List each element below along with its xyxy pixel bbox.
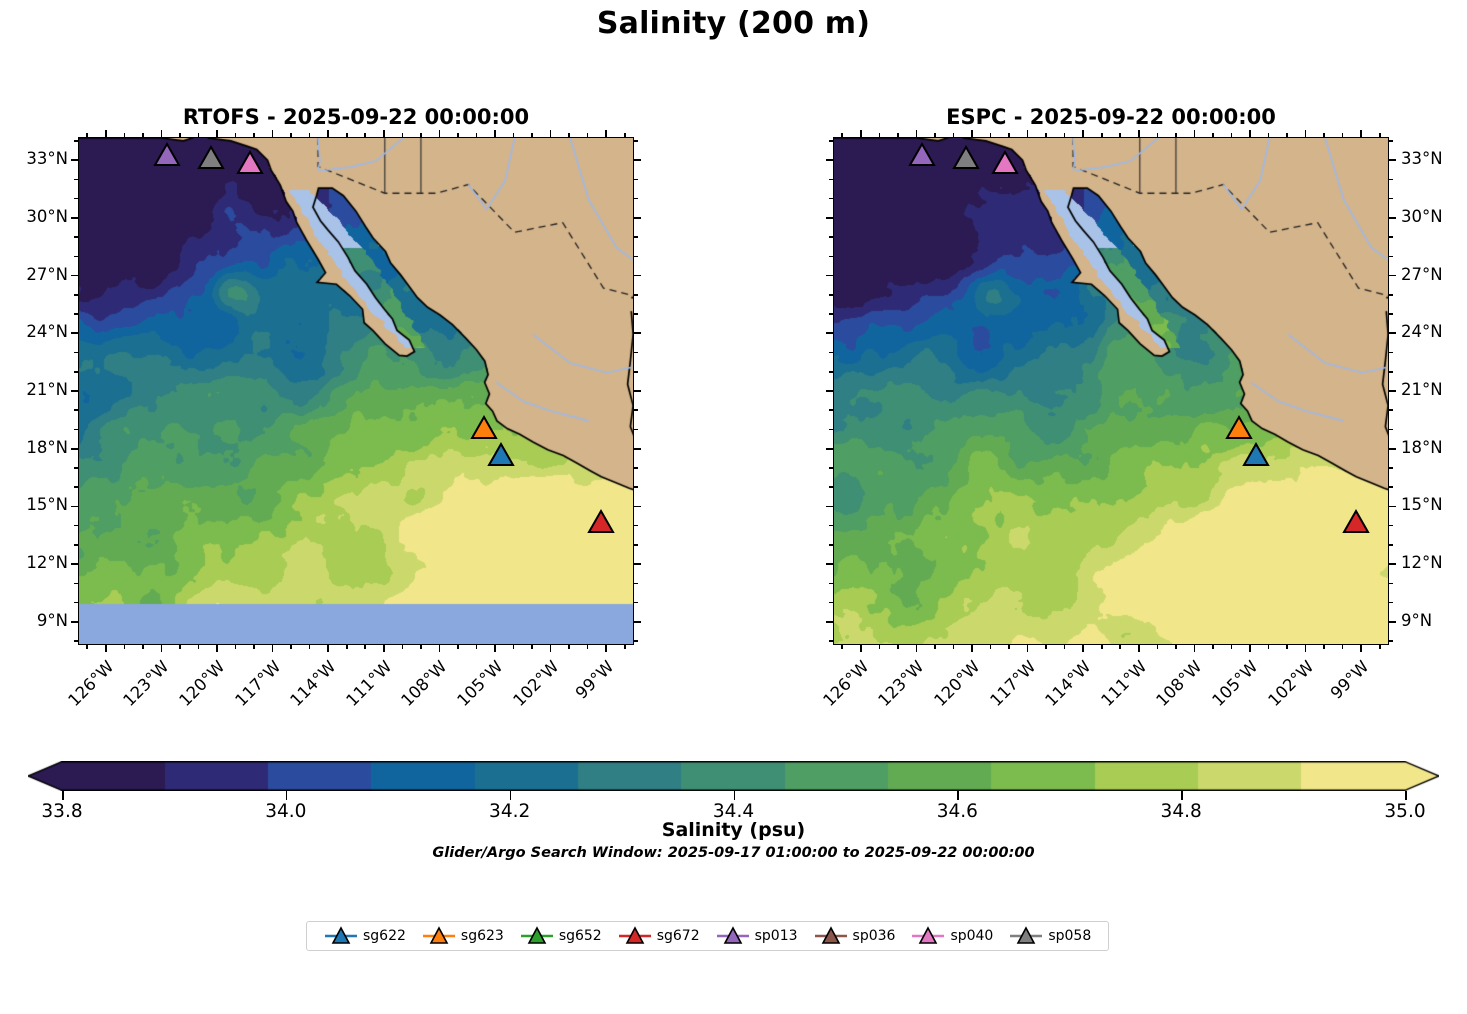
y-tick xyxy=(634,486,638,488)
y-tick xyxy=(74,486,78,488)
y-axis-label: 24°N xyxy=(1401,322,1467,341)
x-tick xyxy=(364,133,366,137)
y-tick xyxy=(74,256,78,258)
x-tick xyxy=(513,133,515,137)
x-tick xyxy=(161,645,163,652)
y-tick xyxy=(829,602,833,604)
y-tick xyxy=(829,429,833,431)
y-tick xyxy=(829,294,833,296)
y-tick xyxy=(634,429,638,431)
x-tick xyxy=(494,130,496,137)
y-tick xyxy=(1389,506,1396,508)
x-tick xyxy=(1194,645,1196,652)
x-tick xyxy=(86,133,88,137)
y-tick xyxy=(1389,179,1393,181)
x-tick xyxy=(179,133,181,137)
y-tick xyxy=(71,159,78,161)
y-tick xyxy=(71,506,78,508)
legend-item-sp058[interactable]: sp058 xyxy=(1001,927,1099,945)
search-window-caption: Glider/Argo Search Window: 2025-09-17 01… xyxy=(0,845,1467,861)
y-tick xyxy=(1389,256,1393,258)
y-tick xyxy=(74,467,78,469)
x-tick xyxy=(105,645,107,652)
x-tick xyxy=(531,133,533,137)
legend-label: sp040 xyxy=(950,928,993,944)
x-tick xyxy=(309,645,311,649)
y-tick xyxy=(74,294,78,296)
x-tick xyxy=(476,645,478,649)
y-tick xyxy=(634,236,638,238)
y-axis-label: 18°N xyxy=(0,438,68,457)
y-tick xyxy=(826,332,833,334)
x-tick xyxy=(1175,133,1177,137)
y-axis-label: 18°N xyxy=(1401,438,1467,457)
x-tick xyxy=(1212,133,1214,137)
y-axis-label: 21°N xyxy=(0,380,68,399)
x-tick xyxy=(198,645,200,649)
y-tick xyxy=(829,486,833,488)
y-tick xyxy=(634,621,641,623)
y-tick xyxy=(1389,352,1393,354)
salinity-field-espc xyxy=(834,138,1389,645)
x-tick xyxy=(142,133,144,137)
x-tick xyxy=(346,133,348,137)
y-tick xyxy=(826,563,833,565)
map-area-rtofs[interactable] xyxy=(78,137,634,645)
y-tick xyxy=(826,448,833,450)
x-tick xyxy=(1175,645,1177,649)
y-tick xyxy=(1389,486,1393,488)
y-tick xyxy=(74,544,78,546)
x-tick xyxy=(272,130,274,137)
y-tick xyxy=(1389,525,1393,527)
x-tick xyxy=(1064,645,1066,649)
y-tick xyxy=(634,371,638,373)
x-tick xyxy=(1268,133,1270,137)
y-tick xyxy=(829,467,833,469)
y-tick xyxy=(1389,621,1396,623)
x-tick xyxy=(142,645,144,649)
y-tick xyxy=(1389,198,1393,200)
y-axis-label: 15°N xyxy=(1401,495,1467,514)
x-tick xyxy=(1082,130,1084,137)
y-tick xyxy=(826,217,833,219)
x-tick xyxy=(860,645,862,652)
y-tick xyxy=(634,467,638,469)
x-tick xyxy=(494,645,496,652)
x-tick xyxy=(1249,645,1251,652)
x-tick xyxy=(513,645,515,649)
x-tick xyxy=(1101,133,1103,137)
x-tick xyxy=(990,645,992,649)
y-tick xyxy=(1389,313,1393,315)
x-tick xyxy=(953,133,955,137)
y-axis-label: 27°N xyxy=(0,265,68,284)
x-tick xyxy=(216,130,218,137)
y-tick xyxy=(1389,140,1393,142)
y-tick xyxy=(1389,640,1393,642)
legend: sg622sg623sg652sg672sp013sp036sp040sp058 xyxy=(306,921,1109,951)
colorbar-tick xyxy=(734,791,736,800)
figure-root: Salinity (200 m) RTOFS - 2025-09-22 00:0… xyxy=(0,0,1467,1014)
y-tick xyxy=(71,275,78,277)
legend-label: sp013 xyxy=(755,928,798,944)
y-tick xyxy=(634,583,638,585)
x-tick xyxy=(568,645,570,649)
x-tick xyxy=(272,645,274,652)
x-tick xyxy=(124,645,126,649)
x-tick xyxy=(457,133,459,137)
y-axis-label: 9°N xyxy=(0,611,68,630)
y-axis-label: 27°N xyxy=(1401,265,1467,284)
y-tick xyxy=(71,448,78,450)
x-tick xyxy=(198,133,200,137)
legend-marker-icon xyxy=(520,927,554,945)
legend-item-sg672[interactable]: sg672 xyxy=(610,927,708,945)
colorbar-tick xyxy=(286,791,288,800)
x-tick xyxy=(86,645,88,649)
x-tick xyxy=(235,133,237,137)
y-tick xyxy=(1389,236,1393,238)
x-tick xyxy=(1008,645,1010,649)
y-tick xyxy=(634,506,641,508)
colorbar-tick xyxy=(957,791,959,800)
y-tick xyxy=(74,140,78,142)
y-tick xyxy=(74,179,78,181)
y-tick xyxy=(829,525,833,527)
x-tick xyxy=(605,645,607,652)
y-tick xyxy=(1389,294,1393,296)
y-tick xyxy=(74,371,78,373)
y-tick xyxy=(634,544,638,546)
x-tick xyxy=(841,645,843,649)
y-tick xyxy=(829,409,833,411)
x-tick xyxy=(439,130,441,137)
y-tick xyxy=(826,275,833,277)
x-tick xyxy=(124,133,126,137)
map-panel-espc: ESPC - 2025-09-22 00:00:00126°W123°W120°… xyxy=(833,137,1389,645)
y-tick xyxy=(1389,332,1396,334)
page-title: Salinity (200 m) xyxy=(0,6,1467,41)
colorbar-label: Salinity (psu) xyxy=(0,819,1467,841)
x-tick xyxy=(841,133,843,137)
x-tick xyxy=(897,645,899,649)
x-tick xyxy=(327,645,329,652)
y-tick xyxy=(634,640,638,642)
x-tick xyxy=(624,645,626,649)
y-tick xyxy=(634,217,641,219)
x-tick xyxy=(1194,130,1196,137)
y-axis-label: 30°N xyxy=(0,207,68,226)
y-tick xyxy=(829,544,833,546)
legend-item-sg652[interactable]: sg652 xyxy=(512,927,610,945)
y-tick xyxy=(71,390,78,392)
colorbar-gradient xyxy=(28,761,1439,791)
legend-item-sg623[interactable]: sg623 xyxy=(414,927,512,945)
legend-item-sp036[interactable]: sp036 xyxy=(806,927,904,945)
y-tick xyxy=(71,332,78,334)
y-tick xyxy=(634,409,638,411)
x-tick xyxy=(290,133,292,137)
x-tick xyxy=(916,130,918,137)
y-tick xyxy=(829,352,833,354)
x-tick xyxy=(916,645,918,652)
x-tick xyxy=(587,645,589,649)
colorbar-ticks: 33.834.034.234.434.634.835.0 xyxy=(28,791,1439,801)
y-tick xyxy=(1389,217,1396,219)
x-tick xyxy=(476,133,478,137)
y-tick xyxy=(1389,371,1393,373)
y-axis-label: 24°N xyxy=(0,322,68,341)
x-tick xyxy=(1249,130,1251,137)
y-tick xyxy=(826,390,833,392)
x-tick xyxy=(327,130,329,137)
y-tick xyxy=(634,140,638,142)
legend-label: sg672 xyxy=(657,928,700,944)
x-tick xyxy=(605,130,607,137)
y-tick xyxy=(1389,544,1393,546)
y-tick xyxy=(634,198,638,200)
y-tick xyxy=(829,640,833,642)
y-tick xyxy=(74,525,78,527)
y-tick xyxy=(829,179,833,181)
y-tick xyxy=(634,390,641,392)
x-tick xyxy=(161,130,163,137)
y-axis-label: 33°N xyxy=(1401,149,1467,168)
x-tick xyxy=(402,645,404,649)
x-tick xyxy=(1101,645,1103,649)
x-tick xyxy=(1064,133,1066,137)
y-tick xyxy=(1389,429,1393,431)
y-tick xyxy=(1389,583,1393,585)
x-tick xyxy=(531,645,533,649)
legend-marker-icon xyxy=(911,927,945,945)
x-tick xyxy=(253,645,255,649)
y-tick xyxy=(1389,275,1396,277)
y-axis-label: 12°N xyxy=(0,553,68,572)
x-tick xyxy=(934,133,936,137)
y-tick xyxy=(634,525,638,527)
x-tick xyxy=(383,130,385,137)
map-area-espc[interactable] xyxy=(833,137,1389,645)
y-tick xyxy=(74,602,78,604)
x-tick xyxy=(879,133,881,137)
y-tick xyxy=(826,159,833,161)
legend-label: sg623 xyxy=(461,928,504,944)
y-tick xyxy=(1389,602,1393,604)
y-tick xyxy=(1389,159,1396,161)
y-tick xyxy=(634,332,641,334)
x-tick xyxy=(897,133,899,137)
x-tick xyxy=(1119,645,1121,649)
y-tick xyxy=(829,198,833,200)
x-tick xyxy=(105,130,107,137)
x-tick xyxy=(1305,130,1307,137)
x-tick xyxy=(1305,645,1307,652)
legend-item-sg622[interactable]: sg622 xyxy=(316,927,414,945)
y-tick xyxy=(74,429,78,431)
y-tick xyxy=(74,198,78,200)
y-tick xyxy=(634,602,638,604)
x-tick xyxy=(253,133,255,137)
colorbar-tick xyxy=(510,791,512,800)
x-tick xyxy=(1360,130,1362,137)
y-tick xyxy=(1389,409,1393,411)
y-tick xyxy=(71,621,78,623)
x-tick xyxy=(420,133,422,137)
colorbar-tick xyxy=(1181,791,1183,800)
x-tick xyxy=(439,645,441,652)
x-tick xyxy=(550,645,552,652)
x-tick xyxy=(568,133,570,137)
x-tick xyxy=(1231,645,1233,649)
x-tick xyxy=(1379,133,1381,137)
x-tick xyxy=(1119,133,1121,137)
y-tick xyxy=(1389,563,1396,565)
x-tick xyxy=(990,133,992,137)
x-tick xyxy=(420,645,422,649)
y-tick xyxy=(634,563,641,565)
panel-title-rtofs: RTOFS - 2025-09-22 00:00:00 xyxy=(78,105,634,129)
y-tick xyxy=(634,294,638,296)
x-tick xyxy=(402,133,404,137)
x-tick xyxy=(953,645,955,649)
x-tick xyxy=(383,645,385,652)
x-tick xyxy=(1286,645,1288,649)
x-tick xyxy=(1157,133,1159,137)
y-tick xyxy=(71,217,78,219)
x-tick xyxy=(587,133,589,137)
y-tick xyxy=(634,256,638,258)
legend-marker-icon xyxy=(422,927,456,945)
legend-marker-icon xyxy=(716,927,750,945)
x-tick xyxy=(309,133,311,137)
y-tick xyxy=(829,371,833,373)
x-tick xyxy=(1268,645,1270,649)
y-axis-label: 30°N xyxy=(1401,207,1467,226)
x-tick xyxy=(1212,645,1214,649)
x-tick xyxy=(971,645,973,652)
y-axis-label: 15°N xyxy=(0,495,68,514)
y-axis-label: 33°N xyxy=(0,149,68,168)
x-tick xyxy=(1045,133,1047,137)
x-tick xyxy=(235,645,237,649)
y-tick xyxy=(634,448,641,450)
x-tick xyxy=(290,645,292,649)
y-tick xyxy=(74,409,78,411)
x-tick xyxy=(1342,645,1344,649)
legend-marker-icon xyxy=(814,927,848,945)
y-tick xyxy=(829,236,833,238)
legend-label: sp036 xyxy=(853,928,896,944)
x-tick xyxy=(1027,645,1029,652)
legend-label: sg622 xyxy=(363,928,406,944)
colorbar-tick xyxy=(1405,791,1407,800)
y-tick xyxy=(634,313,638,315)
x-tick xyxy=(1360,645,1362,652)
y-tick xyxy=(829,313,833,315)
x-tick xyxy=(1323,133,1325,137)
legend-marker-icon xyxy=(1009,927,1043,945)
y-tick xyxy=(1389,467,1393,469)
y-tick xyxy=(829,140,833,142)
y-axis-label: 9°N xyxy=(1401,611,1467,630)
legend-item-sp040[interactable]: sp040 xyxy=(903,927,1001,945)
y-tick xyxy=(634,179,638,181)
x-tick xyxy=(1138,130,1140,137)
x-tick xyxy=(1082,645,1084,652)
x-tick xyxy=(179,645,181,649)
x-tick xyxy=(550,130,552,137)
x-tick xyxy=(1138,645,1140,652)
colorbar-tick xyxy=(62,791,64,800)
y-tick xyxy=(1389,390,1396,392)
y-tick xyxy=(74,640,78,642)
legend-item-sp013[interactable]: sp013 xyxy=(708,927,806,945)
y-tick xyxy=(634,159,641,161)
legend-label: sp058 xyxy=(1048,928,1091,944)
panel-title-espc: ESPC - 2025-09-22 00:00:00 xyxy=(833,105,1389,129)
y-tick xyxy=(71,563,78,565)
y-tick xyxy=(634,275,641,277)
y-tick xyxy=(829,256,833,258)
x-tick xyxy=(971,130,973,137)
legend-marker-icon xyxy=(618,927,652,945)
y-axis-label: 12°N xyxy=(1401,553,1467,572)
y-tick xyxy=(829,583,833,585)
x-tick xyxy=(934,645,936,649)
x-tick xyxy=(1231,133,1233,137)
x-tick xyxy=(879,645,881,649)
x-tick xyxy=(216,645,218,652)
x-tick xyxy=(457,645,459,649)
colorbar xyxy=(28,761,1439,791)
y-tick xyxy=(826,621,833,623)
y-tick xyxy=(74,236,78,238)
x-tick xyxy=(364,645,366,649)
salinity-field-rtofs xyxy=(79,138,634,645)
y-tick xyxy=(74,583,78,585)
y-tick xyxy=(634,352,638,354)
y-axis-label: 21°N xyxy=(1401,380,1467,399)
y-tick xyxy=(74,352,78,354)
x-tick xyxy=(860,130,862,137)
x-tick xyxy=(1379,645,1381,649)
x-tick xyxy=(1027,130,1029,137)
x-tick xyxy=(1045,645,1047,649)
x-tick xyxy=(1286,133,1288,137)
x-tick xyxy=(624,133,626,137)
x-tick xyxy=(1008,133,1010,137)
x-tick xyxy=(1342,133,1344,137)
y-tick xyxy=(826,506,833,508)
y-tick xyxy=(1389,448,1396,450)
x-tick xyxy=(1157,645,1159,649)
legend-marker-icon xyxy=(324,927,358,945)
map-panel-rtofs: RTOFS - 2025-09-22 00:00:00126°W123°W120… xyxy=(78,137,634,645)
legend-label: sg652 xyxy=(559,928,602,944)
x-tick xyxy=(1323,645,1325,649)
y-tick xyxy=(74,313,78,315)
x-tick xyxy=(346,645,348,649)
